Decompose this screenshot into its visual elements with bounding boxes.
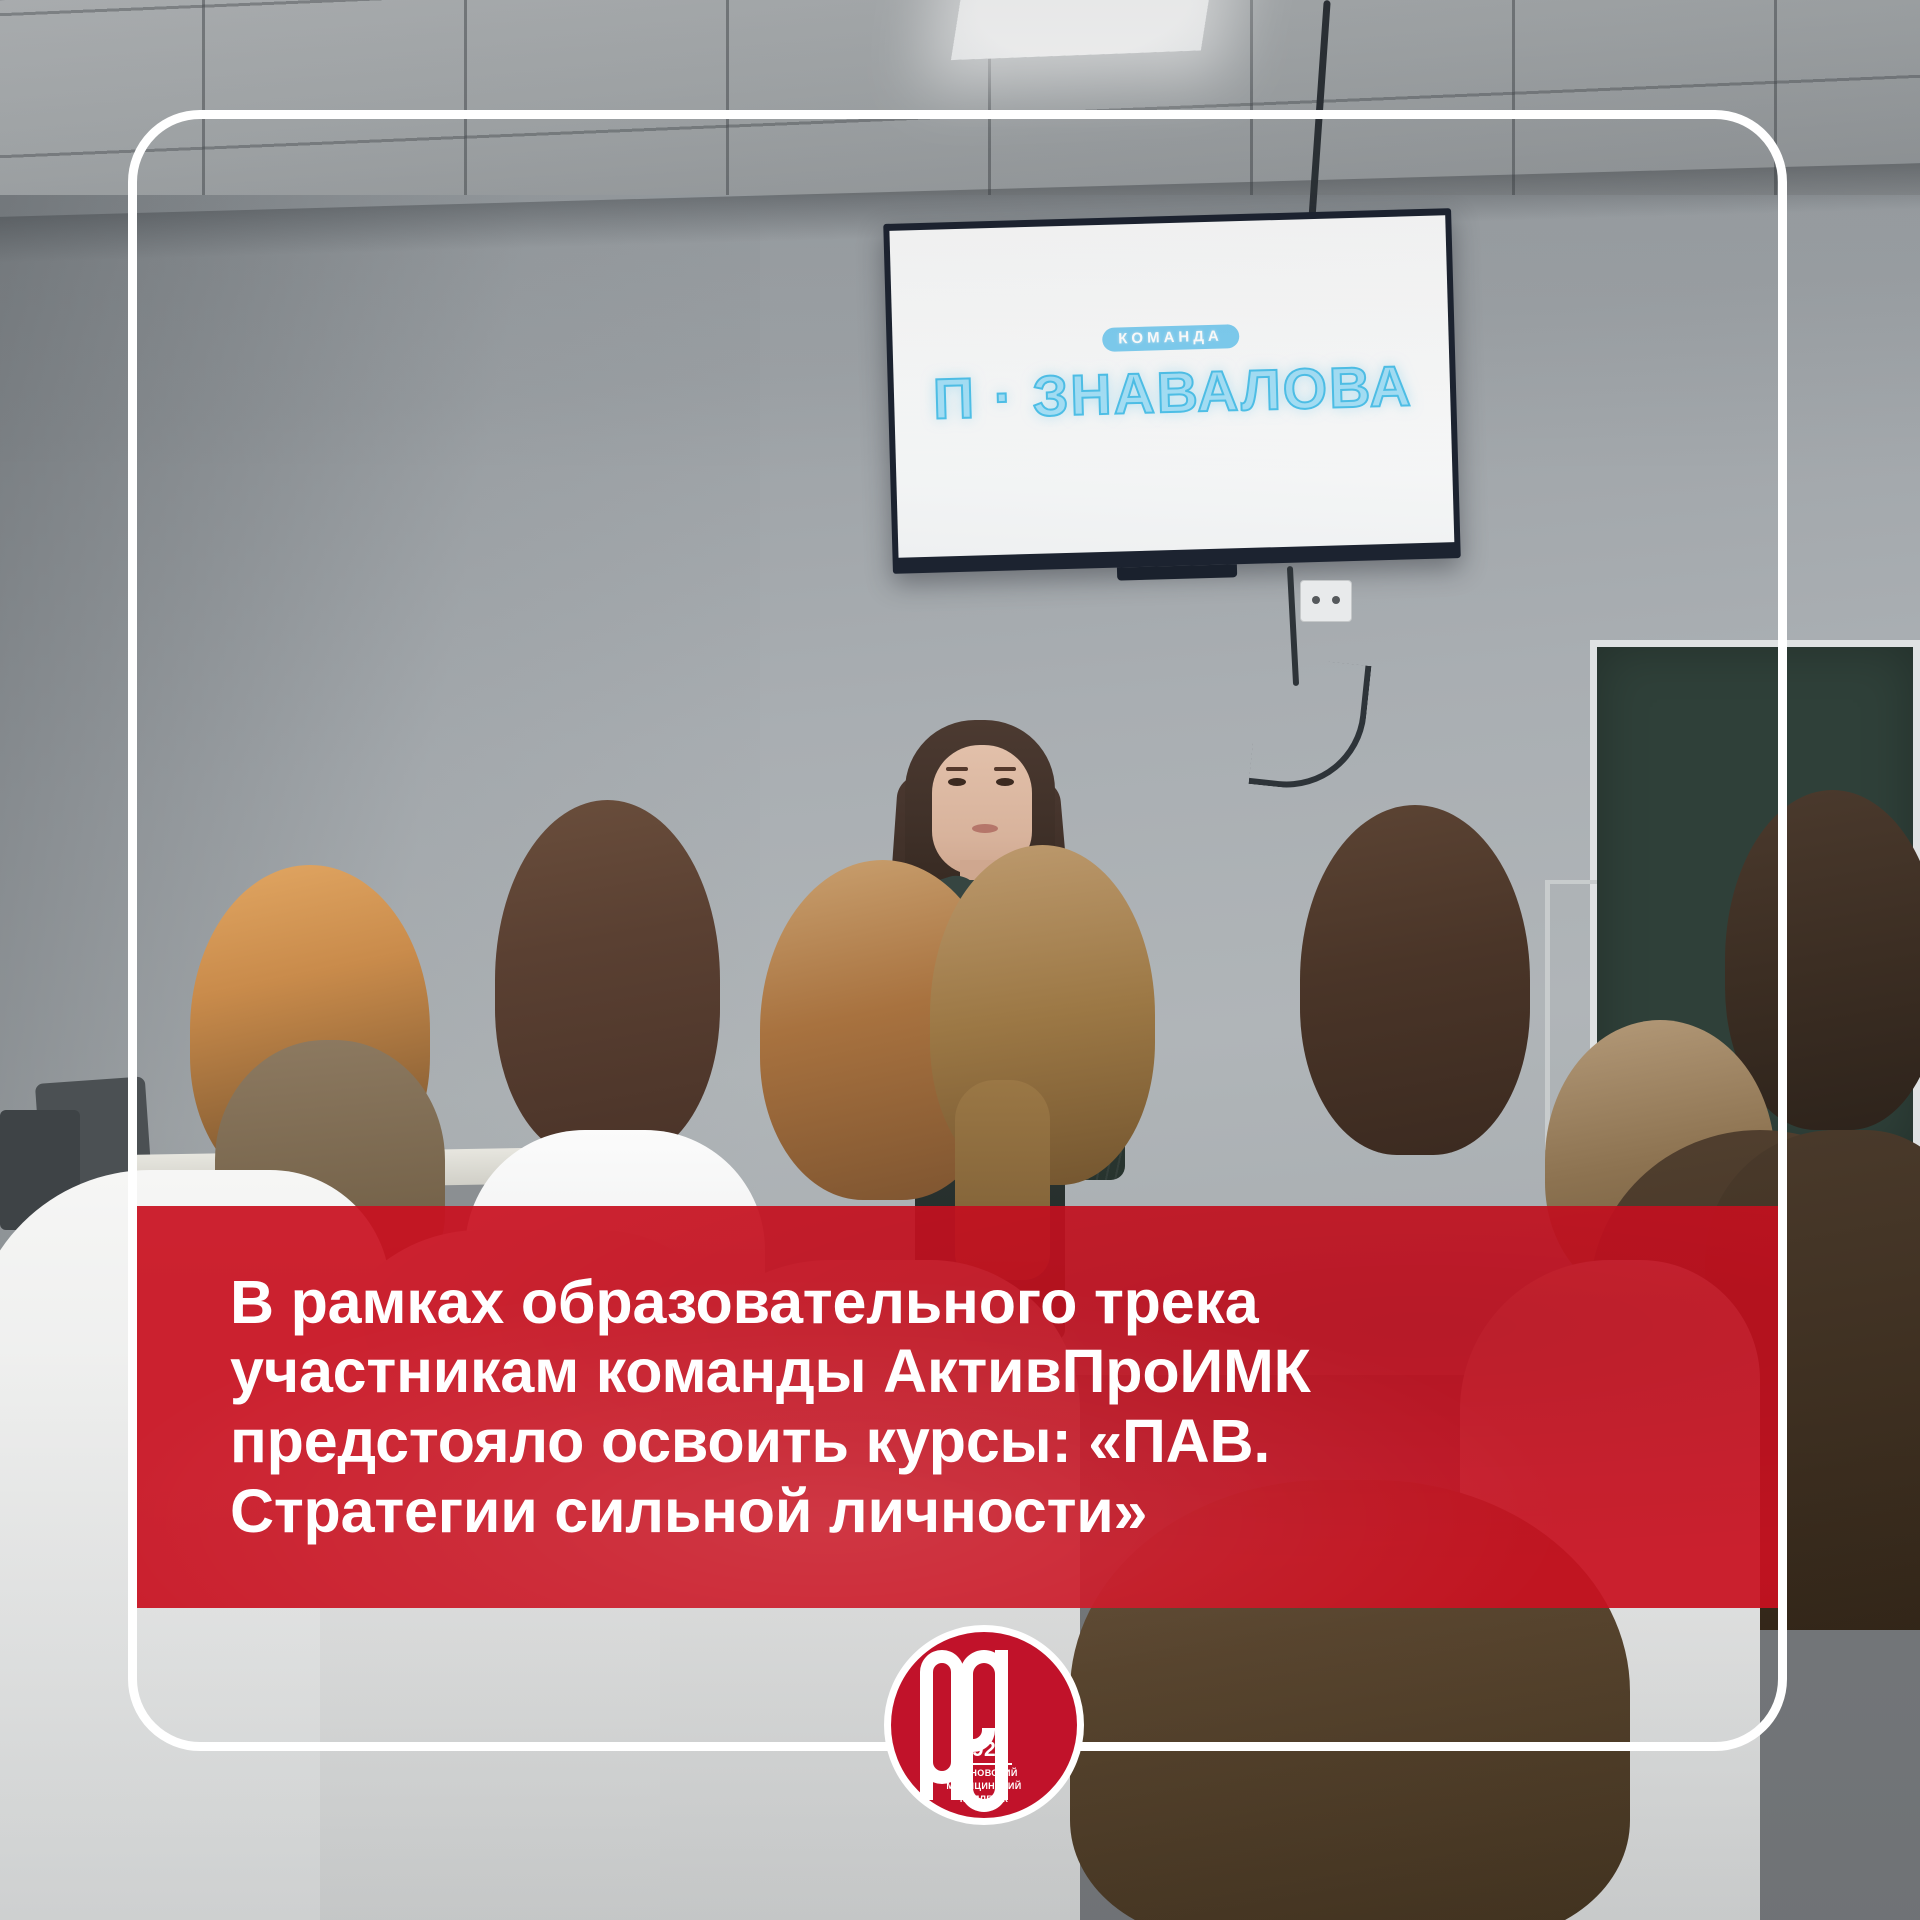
presenter-eye-right [996, 778, 1014, 786]
caption-text: В рамках образовательного трека участник… [135, 1258, 1341, 1556]
caption-line-1: В рамках образовательного трека [230, 1268, 1311, 1338]
slide-badge: КОМАНДА [1102, 324, 1239, 352]
ceiling-light-panel [951, 0, 1219, 60]
audience-head [495, 800, 720, 1160]
caption-line-3: предстояло освоить курсы: «ПАВ. [230, 1407, 1311, 1477]
audience-head [1300, 805, 1530, 1155]
presenter-lips [972, 824, 998, 833]
poster-canvas: КОМАНДА П · ЗНАВАЛОВА [0, 0, 1920, 1920]
logo-caption: 1924 ИВАНОВСКИЙ МЕДИЦИНСКИЙ КОЛЛЕДЖ [891, 1738, 1077, 1804]
presenter-brow-left [946, 767, 968, 771]
logo-line-1: ИВАНОВСКИЙ [891, 1768, 1077, 1778]
presentation-slide: КОМАНДА П · ЗНАВАЛОВА [932, 353, 1412, 432]
slide-title: П · ЗНАВАЛОВА [932, 353, 1412, 432]
tv-screen: КОМАНДА П · ЗНАВАЛОВА [889, 215, 1454, 557]
logo-line-3: КОЛЛЕДЖ [891, 1794, 1077, 1804]
wall-mounted-tv: КОМАНДА П · ЗНАВАЛОВА [883, 208, 1461, 574]
college-logo: 1924 ИВАНОВСКИЙ МЕДИЦИНСКИЙ КОЛЛЕДЖ [884, 1625, 1084, 1825]
presenter-eye-left [948, 778, 966, 786]
caption-line-2: участникам команды АктивПроИМК [230, 1337, 1311, 1407]
caption-line-4: Стратегии сильной личности» [230, 1477, 1311, 1547]
power-socket [1300, 580, 1352, 622]
caption-banner: В рамках образовательного трека участник… [135, 1206, 1781, 1608]
logo-year: 1924 [956, 1738, 1013, 1765]
logo-line-2: МЕДИЦИНСКИЙ [891, 1781, 1077, 1791]
presenter-brow-right [994, 767, 1016, 771]
